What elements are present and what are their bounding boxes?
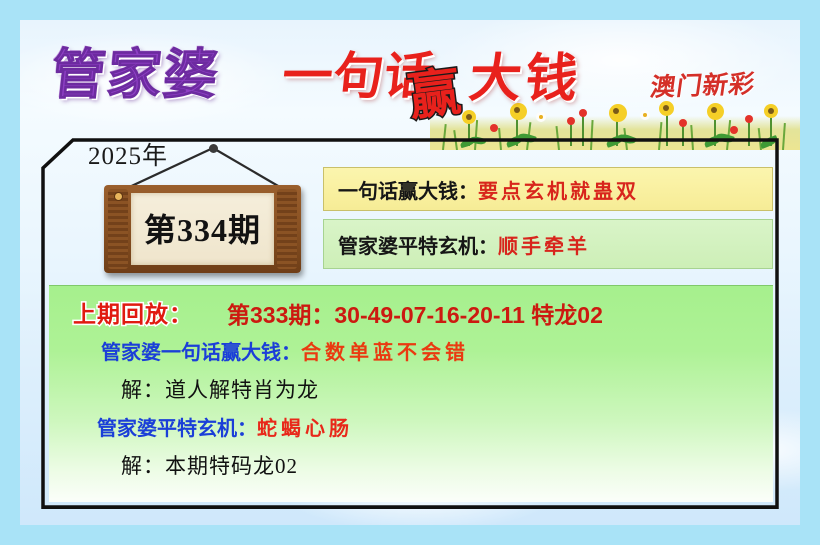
headline-lottery-brand: 澳门新彩 <box>648 64 758 104</box>
headline-brand-text: 管家婆 <box>48 30 224 109</box>
pingte-label: 管家婆平特玄机： <box>324 230 498 259</box>
issue-number: 第334期 <box>131 205 274 251</box>
body-line-1-label: 管家婆一句话赢大钱： <box>101 340 301 364</box>
results-box: 上期回放： 第333期：30-49-07-16-20-11 特龙02 管家婆一句… <box>49 285 773 502</box>
body-line-3-value: 蛇蝎心肠 <box>257 416 353 440</box>
body-line-3: 管家婆平特玄机：蛇蝎心肠 <box>97 412 353 441</box>
body-line-1: 管家婆一句话赢大钱：合数单蓝不会错 <box>101 336 469 365</box>
replay-row: 上期回放： 第333期：30-49-07-16-20-11 特龙02 <box>49 294 773 328</box>
headline-bigmoney-text: 大钱 <box>466 36 586 111</box>
prediction-value: 要点玄机就蛊双 <box>478 175 639 204</box>
replay-numbers: 第333期：30-49-07-16-20-11 特龙02 <box>227 296 603 330</box>
board-parchment: 第334期 <box>131 193 274 265</box>
body-line-1-value: 合数单蓝不会错 <box>301 340 469 364</box>
replay-label: 上期回放： <box>73 295 193 329</box>
board-nail-right <box>283 193 290 200</box>
prediction-row-green: 管家婆平特玄机： 顺手牵羊 <box>323 219 773 269</box>
headline: 管家婆 一句话 赢 大钱 澳门新彩 <box>0 22 820 102</box>
prediction-label: 一句话赢大钱： <box>324 175 478 204</box>
wooden-board: 第334期 <box>104 185 301 273</box>
poster-root: 管家婆 一句话 赢 大钱 澳门新彩 2025年 第334期 一句话赢大钱： 要点… <box>0 0 820 545</box>
pingte-value: 顺手牵羊 <box>498 230 590 259</box>
body-line-2: 解：道人解特肖为龙 <box>121 374 319 404</box>
body-line-4: 解：本期特码龙02 <box>121 450 298 480</box>
sign-hook <box>209 144 218 153</box>
body-line-3-label: 管家婆平特玄机： <box>97 416 257 440</box>
headline-win-char: 赢 <box>404 49 465 130</box>
hanging-sign: 第334期 <box>95 140 315 285</box>
board-nail-left <box>115 193 122 200</box>
prediction-row-yellow: 一句话赢大钱： 要点玄机就蛊双 <box>323 167 773 211</box>
